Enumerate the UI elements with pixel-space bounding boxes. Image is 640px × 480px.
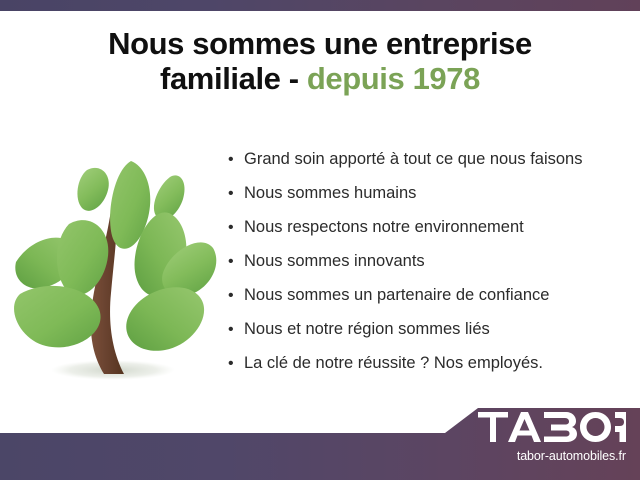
bullet-marker-icon: • <box>228 286 244 306</box>
headline-accent-text: depuis 1978 <box>307 61 480 96</box>
tree-leaf <box>154 175 185 219</box>
tree-leaf <box>14 286 101 347</box>
list-item: • Nous et notre région sommes liés <box>228 319 628 353</box>
bullet-marker-icon: • <box>228 150 244 170</box>
bullet-marker-icon: • <box>228 218 244 238</box>
list-item: • Nous sommes humains <box>228 183 628 217</box>
list-item-label: Nous sommes un partenaire de confiance <box>244 285 549 305</box>
list-item-label: Nous sommes innovants <box>244 251 425 271</box>
list-item-label: Nous respectons notre environnement <box>244 217 524 237</box>
list-item: • Nous sommes innovants <box>228 251 628 285</box>
headline-line-1: Nous sommes une entreprise <box>0 26 640 61</box>
page-title: Nous sommes une entreprise familiale - d… <box>0 26 640 96</box>
list-item: • Nous respectons notre environnement <box>228 217 628 251</box>
tabor-logo <box>478 412 626 442</box>
headline-line-2-text: familiale - <box>160 61 307 96</box>
headline-line-1-text: Nous sommes une entreprise <box>108 26 532 61</box>
headline-line-2: familiale - depuis 1978 <box>0 61 640 96</box>
list-item: • Grand soin apporté à tout ce que nous … <box>228 149 628 183</box>
slide-canvas: Nous sommes une entreprise familiale - d… <box>0 0 640 480</box>
list-item-label: Nous sommes humains <box>244 183 416 203</box>
logo-url: tabor-automobiles.fr <box>478 449 626 463</box>
top-accent-bar <box>0 0 640 11</box>
bullet-marker-icon: • <box>228 184 244 204</box>
list-item-label: Grand soin apporté à tout ce que nous fa… <box>244 149 582 169</box>
list-item-label: Nous et notre région sommes liés <box>244 319 490 339</box>
bullet-marker-icon: • <box>228 252 244 272</box>
list-item: • La clé de notre réussite ? Nos employé… <box>228 353 628 387</box>
tree-leaf <box>126 287 204 351</box>
bullet-marker-icon: • <box>228 354 244 374</box>
benefits-list: • Grand soin apporté à tout ce que nous … <box>228 149 628 387</box>
tree-illustration <box>8 155 223 390</box>
tree-leaf <box>77 168 108 211</box>
list-item: • Nous sommes un partenaire de confiance <box>228 285 628 319</box>
bullet-marker-icon: • <box>228 320 244 340</box>
list-item-label: La clé de notre réussite ? Nos employés. <box>244 353 543 373</box>
